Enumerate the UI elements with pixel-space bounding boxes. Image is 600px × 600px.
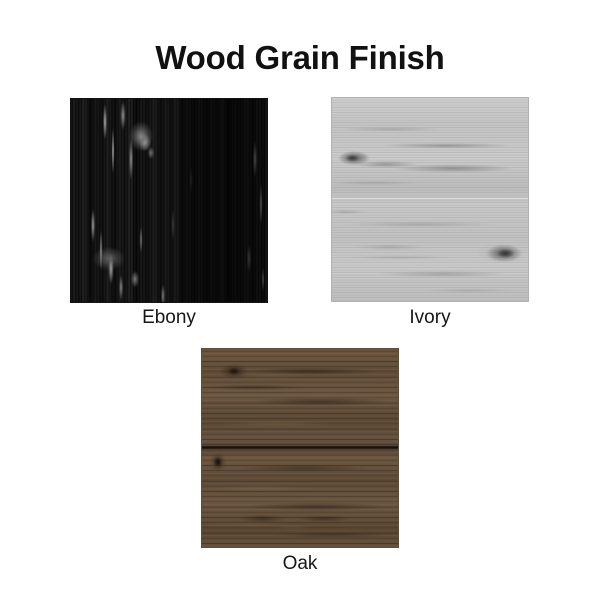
swatch-cell-ivory: Ivory	[331, 97, 529, 302]
page-title: Wood Grain Finish	[0, 39, 600, 77]
swatch-image-ivory[interactable]	[331, 97, 529, 302]
swatch-label-oak: Oak	[201, 553, 399, 575]
ivory-plank-seam	[332, 197, 528, 200]
swatch-label-ebony: Ebony	[70, 307, 268, 329]
swatch-label-ivory: Ivory	[331, 307, 529, 329]
swatch-cell-ebony: Ebony	[70, 98, 268, 303]
swatch-image-ebony[interactable]	[70, 98, 268, 303]
wood-grain-finish-swatch-board: Wood Grain Finish Ebony Ivory	[0, 0, 600, 600]
swatch-cell-oak: Oak	[201, 348, 399, 548]
swatch-image-oak[interactable]	[201, 348, 399, 548]
oak-plank-seam	[202, 446, 398, 449]
ebony-dark-vignette-overlay	[70, 98, 268, 303]
